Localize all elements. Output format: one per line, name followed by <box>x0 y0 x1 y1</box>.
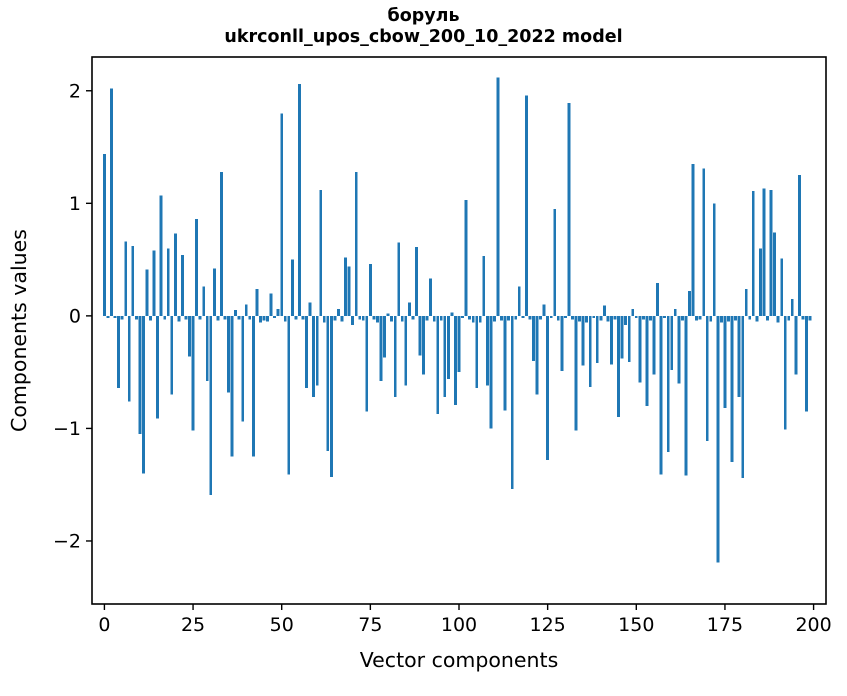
bar <box>135 316 138 319</box>
bar <box>727 316 730 322</box>
bar <box>766 316 769 321</box>
figure-canvas: боруль ukrconll_upos_cbow_200_10_2022 mo… <box>0 0 847 696</box>
y-tick-label: 0 <box>69 305 81 327</box>
bar <box>624 316 627 325</box>
bar <box>646 316 649 406</box>
bars-group <box>103 77 811 562</box>
bar <box>358 316 361 319</box>
bar <box>582 316 585 366</box>
bar <box>277 309 280 316</box>
bar <box>532 316 535 361</box>
bar <box>592 316 595 318</box>
bar <box>302 316 305 319</box>
bar <box>238 316 241 319</box>
bar <box>107 316 110 318</box>
bar <box>202 287 205 316</box>
bar <box>670 316 673 370</box>
bar <box>415 247 418 316</box>
bar <box>720 316 723 323</box>
bar <box>419 316 422 355</box>
bar <box>121 316 124 319</box>
bar <box>759 248 762 316</box>
bar <box>337 309 340 316</box>
bar <box>787 316 790 321</box>
bar <box>153 251 156 316</box>
bar <box>472 316 475 323</box>
y-tick-label: −2 <box>53 530 81 552</box>
bar <box>213 269 216 316</box>
bar <box>117 316 120 388</box>
bar <box>514 316 517 319</box>
bar <box>539 316 542 319</box>
bar <box>330 316 333 477</box>
bar <box>273 316 276 318</box>
bar <box>429 279 432 316</box>
bar <box>546 316 549 460</box>
bar <box>479 316 482 323</box>
bar <box>185 316 188 319</box>
bar <box>224 316 227 319</box>
bar <box>192 316 195 431</box>
bar <box>351 316 354 325</box>
bar <box>312 316 315 397</box>
bar <box>713 203 716 316</box>
bar <box>333 316 336 321</box>
bar <box>489 316 492 429</box>
bar <box>284 316 287 322</box>
bar <box>497 77 500 316</box>
bar <box>568 103 571 316</box>
bar <box>209 316 212 495</box>
bar <box>443 316 446 397</box>
bar <box>638 316 641 382</box>
bar <box>596 316 599 363</box>
bar <box>486 316 489 386</box>
bar <box>663 316 666 318</box>
bar <box>724 316 727 408</box>
bar <box>677 316 680 384</box>
bar <box>440 316 443 321</box>
bar <box>465 200 468 316</box>
bar <box>206 316 209 381</box>
bar <box>741 316 744 478</box>
x-tick-label: 0 <box>98 614 110 636</box>
bar <box>216 316 219 321</box>
bar <box>798 175 801 316</box>
y-tick-label: −1 <box>53 418 81 440</box>
bar <box>734 316 737 321</box>
bar <box>227 316 230 393</box>
bar <box>777 316 780 323</box>
bar <box>234 310 237 316</box>
bar <box>599 316 602 321</box>
bar <box>454 316 457 405</box>
bar <box>305 316 308 388</box>
bar <box>553 209 556 316</box>
bar <box>298 84 301 316</box>
bar <box>610 316 613 364</box>
bar <box>709 316 712 322</box>
bar <box>397 243 400 316</box>
bar <box>316 316 319 386</box>
bar <box>731 316 734 462</box>
bar <box>383 316 386 358</box>
y-axis-label: Components values <box>7 229 31 432</box>
bar <box>692 164 695 316</box>
bar <box>607 316 610 322</box>
bar <box>450 312 453 315</box>
bar <box>255 289 258 316</box>
bar <box>142 316 145 474</box>
bar <box>447 316 450 379</box>
bar <box>387 314 390 316</box>
bar <box>128 316 131 402</box>
plot-area: 0255075100125150175200−2−1012 Vector com… <box>0 0 847 696</box>
bar <box>170 316 173 395</box>
bar <box>103 154 106 316</box>
x-tick-label: 125 <box>530 614 566 636</box>
bar <box>124 242 127 316</box>
bar <box>280 113 283 316</box>
x-tick-label: 50 <box>270 614 294 636</box>
bar <box>344 257 347 316</box>
bar <box>309 302 312 316</box>
bar <box>294 316 297 319</box>
bar <box>536 316 539 395</box>
bar <box>507 316 510 321</box>
bar <box>518 287 521 316</box>
bar <box>482 256 485 316</box>
axis-ticks-group: 0255075100125150175200−2−1012 <box>53 80 832 636</box>
bar <box>110 89 113 316</box>
bar <box>362 316 365 321</box>
bar <box>660 316 663 475</box>
bar <box>146 270 149 316</box>
bar <box>376 316 379 323</box>
bar <box>231 316 234 457</box>
bar <box>149 316 152 321</box>
bar <box>642 316 645 319</box>
bar <box>628 316 631 362</box>
bar <box>504 316 507 411</box>
bar <box>745 289 748 316</box>
bar <box>177 316 180 322</box>
bar <box>603 306 606 316</box>
bar <box>564 316 567 318</box>
bar <box>259 316 262 323</box>
bar <box>738 316 741 397</box>
bar <box>181 255 184 316</box>
bar <box>422 316 425 375</box>
x-tick-label: 150 <box>618 614 654 636</box>
bar <box>791 299 794 316</box>
bar <box>763 189 766 316</box>
bar <box>706 316 709 441</box>
bar <box>138 316 141 434</box>
bar <box>372 316 375 319</box>
bar <box>411 316 414 319</box>
bar <box>631 309 634 316</box>
bar <box>156 316 159 418</box>
bar <box>291 260 294 316</box>
bar <box>174 234 177 316</box>
bar <box>263 316 266 321</box>
bar <box>702 168 705 315</box>
bar <box>458 316 461 372</box>
bar <box>365 316 368 412</box>
bar <box>805 316 808 412</box>
bar <box>500 316 503 321</box>
bar <box>794 316 797 375</box>
x-tick-label: 200 <box>795 614 831 636</box>
bar <box>195 219 198 316</box>
x-tick-label: 75 <box>358 614 382 636</box>
bar <box>575 316 578 431</box>
bar <box>521 316 524 318</box>
bar <box>773 233 776 316</box>
bar <box>220 172 223 316</box>
bar <box>543 305 546 316</box>
bar <box>241 316 244 422</box>
bar <box>401 316 404 322</box>
bar <box>167 248 170 316</box>
bar <box>380 316 383 381</box>
bar <box>716 316 719 562</box>
x-tick-label: 25 <box>181 614 205 636</box>
bar-chart-svg: 0255075100125150175200−2−1012 Vector com… <box>0 0 847 696</box>
bar <box>529 316 532 319</box>
bar <box>557 316 560 321</box>
bar <box>348 266 351 316</box>
bar <box>802 316 805 319</box>
x-axis-label: Vector components <box>360 648 559 672</box>
bar <box>809 316 812 321</box>
bar <box>326 316 329 451</box>
bar <box>656 283 659 316</box>
bar <box>784 316 787 430</box>
bar <box>436 316 439 414</box>
bar <box>131 246 134 316</box>
bar <box>266 316 269 322</box>
bar <box>426 316 429 321</box>
bar <box>394 316 397 397</box>
bar <box>685 316 688 476</box>
bar <box>355 172 358 316</box>
bar <box>621 316 624 359</box>
bar <box>408 302 411 316</box>
bar <box>493 316 496 322</box>
bar <box>695 316 698 321</box>
x-tick-label: 175 <box>707 614 743 636</box>
bar <box>114 316 117 318</box>
bar <box>780 258 783 315</box>
bar <box>578 316 581 322</box>
bar <box>319 190 322 316</box>
bar <box>160 195 163 315</box>
bar <box>674 309 677 316</box>
bar <box>341 316 344 322</box>
bar <box>649 316 652 321</box>
bar <box>245 305 248 316</box>
bar <box>614 316 617 319</box>
bar <box>681 316 684 321</box>
bar <box>404 316 407 386</box>
bar <box>433 316 436 322</box>
bar <box>635 316 638 318</box>
bar <box>688 291 691 316</box>
bar <box>617 316 620 417</box>
bar <box>550 316 553 318</box>
bar <box>755 316 758 322</box>
y-tick-label: 2 <box>69 80 81 102</box>
bar <box>748 316 751 319</box>
x-tick-label: 100 <box>441 614 477 636</box>
bar <box>188 316 191 357</box>
bar <box>270 293 273 316</box>
bar <box>287 316 290 475</box>
bar <box>163 316 166 319</box>
bar <box>585 316 588 323</box>
bar <box>468 316 471 319</box>
bar <box>511 316 514 489</box>
bar <box>589 316 592 387</box>
bar <box>369 264 372 316</box>
bar <box>199 316 202 319</box>
bar <box>475 316 478 388</box>
bar <box>252 316 255 457</box>
bar <box>770 190 773 316</box>
y-tick-label: 1 <box>69 193 81 215</box>
bar <box>323 316 326 323</box>
bar <box>248 316 251 319</box>
bar <box>461 316 464 318</box>
bar <box>390 316 393 322</box>
bar <box>752 191 755 316</box>
bar <box>571 316 574 319</box>
bar <box>653 316 656 375</box>
bar <box>667 316 670 452</box>
bar <box>560 316 563 371</box>
bar <box>525 95 528 316</box>
bar <box>699 316 702 319</box>
